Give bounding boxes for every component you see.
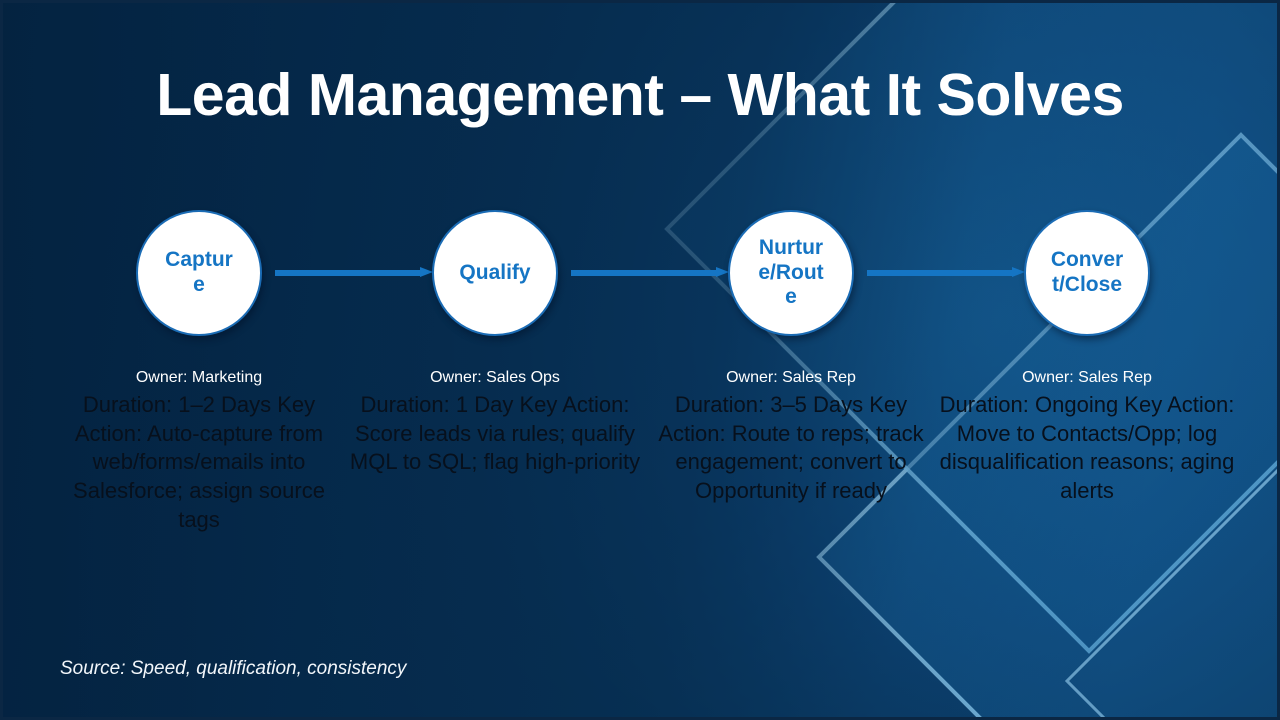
flow-node-nurture-route[interactable]: Nurture/Route (728, 210, 854, 336)
arrow-shaft (867, 270, 1012, 276)
caption-detail: Duration: 3–5 Days Key Action: Route to … (643, 391, 939, 506)
caption-owner: Owner: Marketing (51, 367, 347, 390)
caption-capture: Owner: Marketing Duration: 1–2 Days Key … (51, 367, 347, 535)
process-flow: Capture Qualify Nurture/Route Convert/Cl… (3, 210, 1280, 336)
caption-detail: Duration: Ongoing Key Action: Move to Co… (939, 391, 1235, 506)
caption-owner: Owner: Sales Rep (643, 367, 939, 390)
arrow-shaft (275, 270, 420, 276)
caption-owner: Owner: Sales Rep (939, 367, 1235, 390)
caption-qualify: Owner: Sales Ops Duration: 1 Day Key Act… (347, 367, 643, 477)
flow-node-label: Qualify (458, 261, 532, 286)
arrow-qualify-to-nurture (571, 267, 729, 278)
flow-node-qualify[interactable]: Qualify (432, 210, 558, 336)
arrow-shaft (571, 270, 716, 276)
arrow-capture-to-qualify (275, 267, 433, 278)
source-note: Source: Speed, qualification, consistenc… (60, 658, 406, 680)
caption-detail: Duration: 1 Day Key Action: Score leads … (347, 391, 643, 477)
caption-detail: Duration: 1–2 Days Key Action: Auto-capt… (51, 391, 347, 535)
flow-node-convert-close[interactable]: Convert/Close (1024, 210, 1150, 336)
slide-canvas: Lead Management – What It Solves Capture… (0, 0, 1280, 720)
flow-node-label: Capture (162, 248, 236, 298)
page-title: Lead Management – What It Solves (3, 63, 1277, 128)
flow-node-label: Convert/Close (1050, 248, 1124, 298)
flow-node-capture[interactable]: Capture (136, 210, 262, 336)
caption-convert-close: Owner: Sales Rep Duration: Ongoing Key A… (939, 367, 1235, 506)
caption-owner: Owner: Sales Ops (347, 367, 643, 390)
caption-nurture-route: Owner: Sales Rep Duration: 3–5 Days Key … (643, 367, 939, 506)
flow-node-label: Nurture/Route (754, 236, 828, 310)
arrow-nurture-to-convert (867, 267, 1025, 278)
